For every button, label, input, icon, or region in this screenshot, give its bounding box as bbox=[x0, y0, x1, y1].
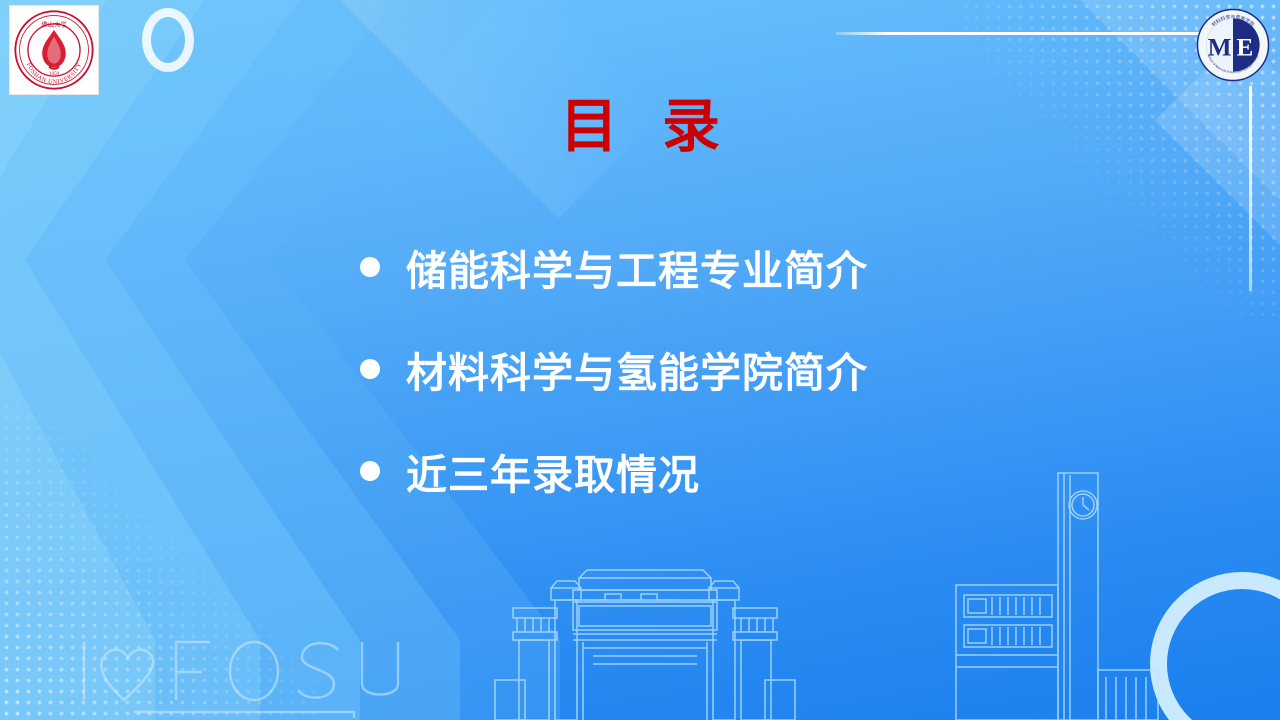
toc-item-label: 近三年录取情况 bbox=[406, 441, 700, 501]
toc-item-2[interactable]: 材料科学与氢能学院简介 bbox=[360, 334, 1120, 404]
svg-text:1958: 1958 bbox=[49, 71, 60, 77]
table-of-contents: 储能科学与工程专业简介 材料科学与氢能学院简介 近三年录取情况 bbox=[360, 232, 1120, 538]
toc-item-label: 储能科学与工程专业简介 bbox=[406, 237, 868, 297]
page-title: 目 录 bbox=[0, 98, 1280, 156]
svg-text:佛山大学: 佛山大学 bbox=[41, 19, 66, 28]
presentation-slide: 佛山大学 1958 FOSHAN UNIVERSITY M E 材料科学与氢能学… bbox=[0, 0, 1280, 720]
toc-item-3[interactable]: 近三年录取情况 bbox=[360, 436, 1120, 506]
i-love-fosu-watermark bbox=[72, 628, 412, 718]
toc-item-label: 材料科学与氢能学院简介 bbox=[406, 339, 868, 399]
bullet-icon bbox=[360, 461, 380, 481]
svg-text:E: E bbox=[1236, 34, 1253, 61]
toc-item-1[interactable]: 储能科学与工程专业简介 bbox=[360, 232, 1120, 302]
bullet-icon bbox=[360, 359, 380, 379]
foshan-university-logo: 佛山大学 1958 FOSHAN UNIVERSITY bbox=[9, 5, 99, 95]
me-monogram-seal: M E 材料科学与氢能学院 School of Materials Scienc… bbox=[1196, 8, 1270, 82]
school-of-materials-science-and-hydrogen-energy-logo: M E 材料科学与氢能学院 School of Materials Scienc… bbox=[1196, 8, 1270, 82]
light-streak bbox=[1155, 35, 1280, 424]
ring-decoration bbox=[1150, 572, 1280, 720]
halftone-dots-bottom-left bbox=[0, 400, 320, 720]
header-rule bbox=[836, 32, 1204, 35]
foshan-university-seal: 佛山大学 1958 FOSHAN UNIVERSITY bbox=[12, 8, 96, 92]
bullet-icon bbox=[360, 257, 380, 277]
campus-archway-line-art bbox=[455, 560, 835, 720]
ring-decoration bbox=[142, 8, 194, 72]
